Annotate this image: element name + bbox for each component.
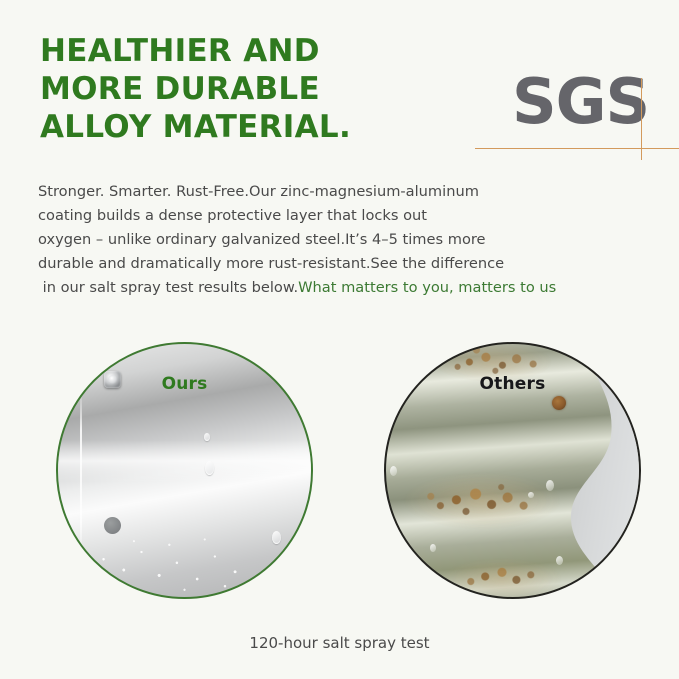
sgs-logo: SGS (470, 62, 679, 167)
body-line-3-text: oxygen – unlike ordinary galvanized stee… (38, 231, 486, 248)
headline-line-1: HEALTHIER AND (40, 32, 440, 70)
ours-sheen-band (58, 440, 311, 482)
body-line-4: durable and dramatically more rust-resis… (38, 252, 648, 276)
body-line-4-text: durable and dramatically more rust-resis… (38, 255, 504, 272)
body-line-5-text: in our salt spray test results below. (38, 279, 298, 296)
promo-page: HEALTHIER AND MORE DURABLE ALLOY MATERIA… (0, 0, 679, 679)
rust-patch (442, 558, 562, 599)
rust-spot (552, 396, 566, 410)
water-droplet (272, 531, 281, 544)
headline-line-3: ALLOY MATERIAL. (40, 108, 440, 146)
tagline-text: What matters to you, matters to us (298, 279, 556, 296)
disc-label-ours: Ours (58, 374, 311, 394)
comparison-section: Ours Others (0, 338, 679, 608)
body-line-5: in our salt spray test results below.Wha… (38, 276, 648, 300)
water-droplet (205, 461, 214, 475)
sgs-wordmark: SGS (512, 64, 649, 140)
water-droplet (390, 466, 397, 476)
water-droplet (556, 556, 563, 565)
water-droplet (430, 544, 436, 552)
page-title: HEALTHIER AND MORE DURABLE ALLOY MATERIA… (40, 32, 440, 146)
body-line-1: Stronger. Smarter. Rust-Free.Our zinc-ma… (38, 180, 648, 204)
sample-disc-others: Others (384, 342, 641, 599)
sgs-horizontal-rule (475, 148, 679, 149)
rust-patch (402, 472, 562, 530)
disc-label-others: Others (386, 374, 639, 394)
body-copy: Stronger. Smarter. Rust-Free.Our zinc-ma… (38, 180, 648, 300)
test-caption: 120-hour salt spray test (0, 634, 679, 652)
water-droplet (528, 492, 534, 498)
sgs-vertical-rule (641, 78, 642, 160)
sample-disc-ours: Ours (56, 342, 313, 599)
ours-surface-mark (104, 517, 121, 534)
body-line-3: oxygen – unlike ordinary galvanized stee… (38, 228, 648, 252)
ours-water-spray (58, 507, 311, 597)
water-droplet (546, 480, 554, 491)
water-droplet (204, 433, 210, 441)
water-droplet (296, 544, 303, 553)
headline-line-2: MORE DURABLE (40, 70, 440, 108)
body-line-2-text: coating builds a dense protective layer … (38, 207, 427, 224)
body-line-2: coating builds a dense protective layer … (38, 204, 648, 228)
body-line-1-text: Stronger. Smarter. Rust-Free.Our zinc-ma… (38, 183, 479, 200)
